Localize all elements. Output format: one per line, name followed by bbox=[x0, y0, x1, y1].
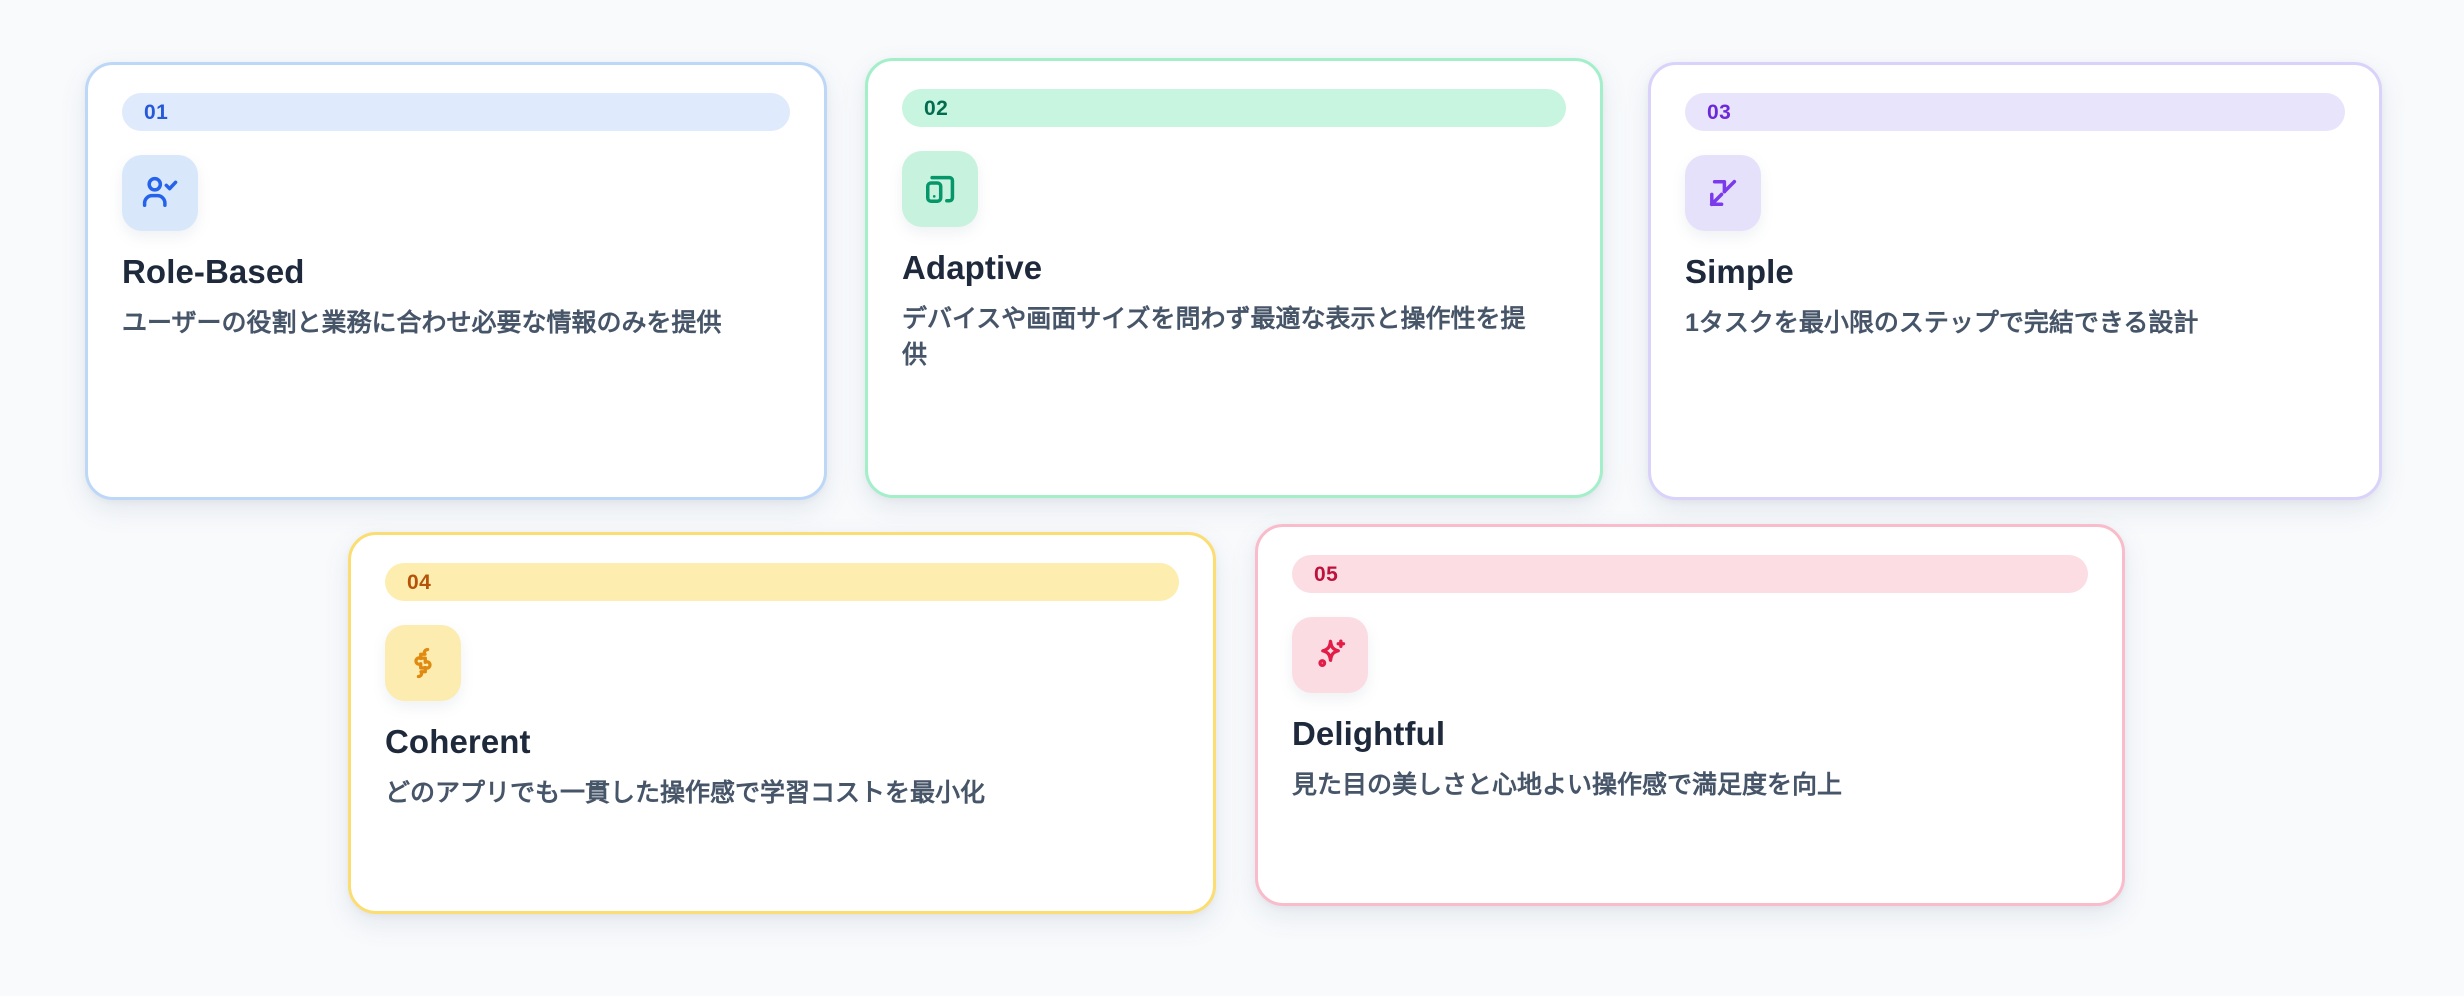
minimize-arrows-icon bbox=[1702, 172, 1744, 214]
card-icon-tile bbox=[385, 625, 461, 701]
card-icon-tile bbox=[902, 151, 978, 227]
card-title: Role-Based bbox=[122, 253, 790, 291]
card-number-bar: 02 bbox=[902, 89, 1566, 127]
card-icon-tile bbox=[1685, 155, 1761, 231]
principle-card-adaptive[interactable]: 02 Adaptive デバイスや画面サイズを問わず最適な表示と操作性を提供 bbox=[865, 58, 1603, 498]
card-description: 見た目の美しさと心地よい操作感で満足度を向上 bbox=[1292, 767, 2052, 803]
card-number: 03 bbox=[1707, 102, 1731, 123]
card-title: Adaptive bbox=[902, 249, 1566, 287]
user-check-icon bbox=[139, 172, 181, 214]
card-number-bar: 03 bbox=[1685, 93, 2345, 131]
principle-card-role-based[interactable]: 01 Role-Based ユーザーの役割と業務に合わせ必要な情報のみを提供 bbox=[85, 62, 827, 500]
card-description: 1タスクを最小限のステップで完結できる設計 bbox=[1685, 305, 2325, 341]
card-number: 01 bbox=[144, 102, 168, 123]
card-description: どのアプリでも一貫した操作感で学習コストを最小化 bbox=[385, 775, 1145, 811]
card-number: 05 bbox=[1314, 564, 1338, 585]
principle-card-delightful[interactable]: 05 Delightful 見た目の美しさと心地よい操作感で満足度を向上 bbox=[1255, 524, 2125, 906]
card-number-bar: 05 bbox=[1292, 555, 2088, 593]
principle-card-simple[interactable]: 03 Simple 1タスクを最小限のステップで完結できる設計 bbox=[1648, 62, 2382, 500]
card-number-bar: 01 bbox=[122, 93, 790, 131]
card-icon-tile bbox=[1292, 617, 1368, 693]
card-description: ユーザーの役割と業務に合わせ必要な情報のみを提供 bbox=[122, 305, 762, 341]
card-number-bar: 04 bbox=[385, 563, 1179, 601]
responsive-devices-icon bbox=[919, 168, 961, 210]
principles-card-board: 01 Role-Based ユーザーの役割と業務に合わせ必要な情報のみを提供 0… bbox=[0, 0, 2464, 996]
principle-card-coherent[interactable]: 04 Coherent どのアプリでも一貫した操作感で学習コストを最小化 bbox=[348, 532, 1216, 914]
puzzle-pieces-icon bbox=[402, 642, 444, 684]
card-title: Coherent bbox=[385, 723, 1179, 761]
sparkles-icon bbox=[1309, 634, 1351, 676]
card-description: デバイスや画面サイズを問わず最適な表示と操作性を提供 bbox=[902, 301, 1542, 374]
card-number: 02 bbox=[924, 98, 948, 119]
card-title: Simple bbox=[1685, 253, 2345, 291]
card-icon-tile bbox=[122, 155, 198, 231]
card-title: Delightful bbox=[1292, 715, 2088, 753]
card-number: 04 bbox=[407, 572, 431, 593]
